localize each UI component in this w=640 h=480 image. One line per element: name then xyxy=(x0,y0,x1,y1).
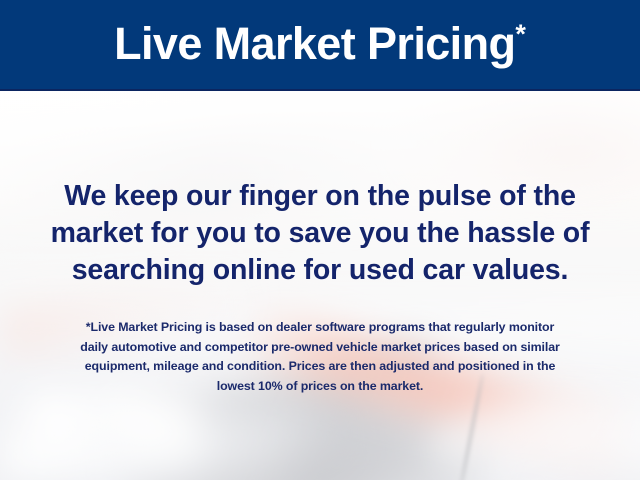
page-title-asterisk: * xyxy=(515,19,526,49)
disclaimer-line: equipment, mileage and condition. Prices… xyxy=(22,357,618,377)
headline-line: searching online for used car values. xyxy=(22,252,618,289)
page-title-text: Live Market Pricing xyxy=(114,18,515,69)
disclaimer-line: *Live Market Pricing is based on dealer … xyxy=(22,318,618,338)
disclaimer-text: *Live Market Pricing is based on dealer … xyxy=(22,318,618,396)
disclaimer-line: daily automotive and competitor pre-owne… xyxy=(22,338,618,358)
disclaimer-line: lowest 10% of prices on the market. xyxy=(22,377,618,397)
headline-line: market for you to save you the hassle of xyxy=(22,215,618,252)
page-title: Live Market Pricing* xyxy=(114,21,526,69)
headline-text: We keep our finger on the pulse of the m… xyxy=(22,178,618,289)
headline-line: We keep our finger on the pulse of the xyxy=(22,178,618,215)
header-band: Live Market Pricing* xyxy=(0,0,640,91)
live-market-pricing-banner: Live Market Pricing* We keep our finger … xyxy=(0,0,640,480)
